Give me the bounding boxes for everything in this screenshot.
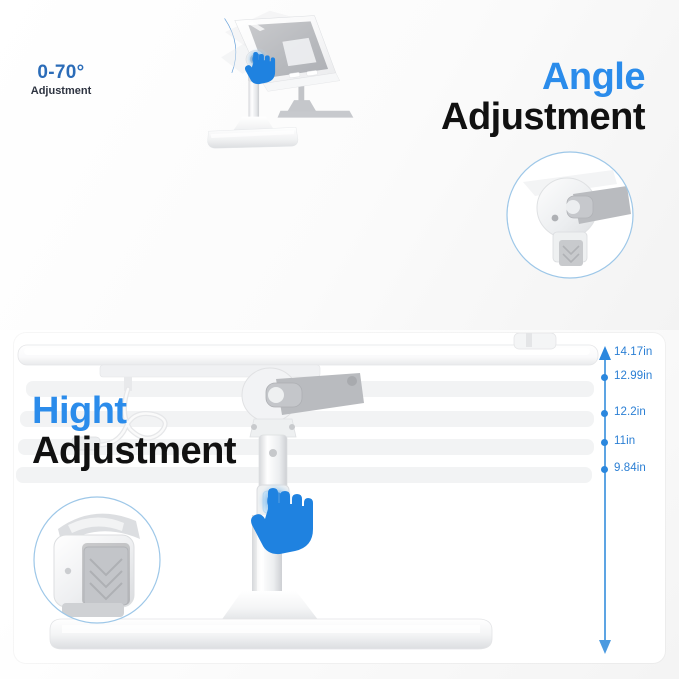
angle-heading-accent: Angle [441,58,645,98]
height-heading-main: Adjustment [32,432,236,472]
hand-pointer-icon [251,483,313,554]
angle-heading: Angle Adjustment [441,58,645,137]
scale-tick-label: 14.17in [614,346,652,358]
scale-tick-label: 11in [614,435,635,447]
scale-dot [601,439,608,446]
desk-slab-top [18,333,598,365]
height-heading-accent: Hight [32,392,236,432]
angle-range-caption: Adjustment [13,85,109,97]
angle-range-label: 0-70° Adjustment [13,62,109,97]
under-desk-bracket [100,365,320,391]
pivot-joint-detail-inset [505,150,635,280]
scale-dot [601,374,608,381]
desk-plate [235,16,340,92]
rear-stand-leg [278,73,354,118]
angle-range-value: 0-70° [13,62,109,84]
telescoping-column [252,435,289,623]
height-scale: 14.17in 12.99in 12.2in 11in 9.84in [596,344,676,656]
height-adjustment-panel: Hight Adjustment [14,333,665,663]
scale-dot [601,466,608,473]
scale-tick-label: 12.99in [614,370,652,382]
infographic-page: 0-70° Adjustment Angle Adjustment [0,0,679,679]
scale-dot [601,410,608,417]
height-heading: Hight Adjustment [32,392,236,471]
hand-pointer-icon [245,48,275,84]
scale-tick-label: 9.84in [614,462,646,474]
front-stand-column [248,82,259,127]
angle-heading-main: Adjustment [441,98,645,138]
angle-adjustment-panel: 0-70° Adjustment Angle Adjustment [0,0,679,330]
ghost-plate-upper [225,11,302,48]
pivot-joint [246,51,264,83]
scale-tick-label: 12.2in [614,406,646,418]
front-stand-base [208,117,298,149]
clamp-lever-detail-inset [32,495,162,625]
ghost-plate-lower [221,30,296,74]
rotation-arc-icon [225,18,236,72]
tilt-hinge-head [242,368,364,437]
